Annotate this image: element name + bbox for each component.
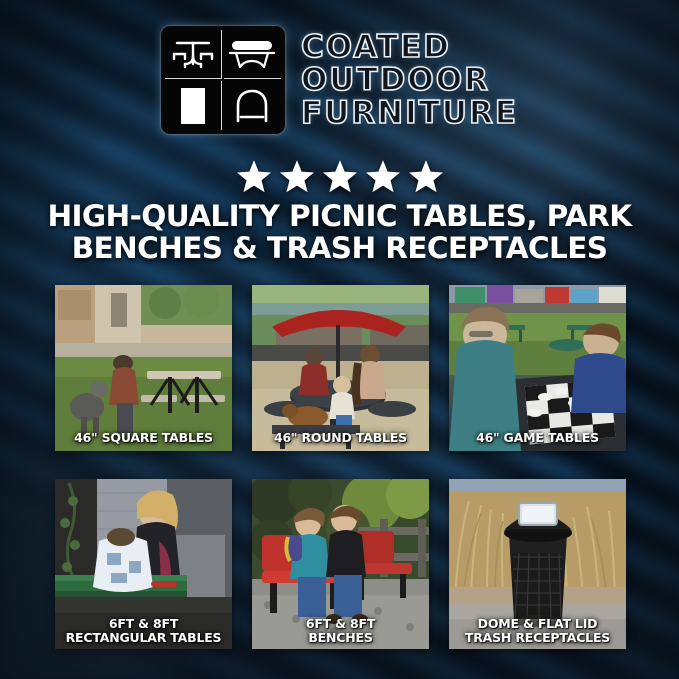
star-icon: [280, 160, 314, 193]
product-tile-round-tables[interactable]: 46" ROUND TABLES: [252, 285, 429, 451]
product-grid: 46" SQUARE TABLES: [55, 285, 627, 649]
product-photo: [449, 285, 626, 451]
product-caption: DOME & FLAT LID TRASH RECEPTACLES: [453, 617, 622, 645]
product-caption: 46" ROUND TABLES: [256, 431, 425, 445]
picnic-table-icon: [165, 30, 222, 79]
brand-wordmark: COATED OUTDOOR FURNITURE: [301, 32, 518, 129]
product-caption: 6FT & 8FT RECTANGULAR TABLES: [59, 617, 228, 645]
caption-line-1: 46" GAME TABLES: [476, 430, 599, 445]
bike-rack-arch-icon: [224, 81, 281, 130]
product-tile-square-tables[interactable]: 46" SQUARE TABLES: [55, 285, 232, 451]
rating-stars: [0, 160, 679, 193]
product-tile-trash-receptacles[interactable]: DOME & FLAT LID TRASH RECEPTACLES: [449, 479, 626, 649]
product-caption: 46" SQUARE TABLES: [59, 431, 228, 445]
caption-line-1: 46" ROUND TABLES: [274, 430, 407, 445]
star-icon: [366, 160, 400, 193]
wordmark-line-outdoor: OUTDOOR: [301, 65, 518, 96]
star-icon: [237, 160, 271, 193]
caption-line-2: BENCHES: [256, 631, 425, 645]
trash-receptacle-icon: [165, 81, 222, 130]
caption-line-2: TRASH RECEPTACLES: [453, 631, 622, 645]
caption-line-2: RECTANGULAR TABLES: [59, 631, 228, 645]
caption-line-1: 6FT & 8FT: [306, 616, 375, 631]
product-photo: [55, 285, 232, 451]
product-caption: 6FT & 8FT BENCHES: [256, 617, 425, 645]
caption-line-1: 6FT & 8FT: [109, 616, 178, 631]
star-icon: [323, 160, 357, 193]
product-photo: [252, 285, 429, 451]
bench-icon: [224, 30, 281, 79]
product-caption: 46" GAME TABLES: [453, 431, 622, 445]
headline-line-1: HIGH-QUALITY PICNIC TABLES, PARK: [47, 199, 631, 233]
marketing-banner: COATED OUTDOOR FURNITURE HIGH-QUALITY PI…: [0, 0, 679, 679]
product-tile-benches[interactable]: 6FT & 8FT BENCHES: [252, 479, 429, 649]
caption-line-1: DOME & FLAT LID: [478, 616, 598, 631]
headline-line-2: BENCHES & TRASH RECEPTACLES: [24, 232, 655, 264]
wordmark-line-furniture: FURNITURE: [301, 98, 518, 129]
wordmark-line-coated: COATED: [301, 32, 518, 63]
star-icon: [409, 160, 443, 193]
product-tile-game-tables[interactable]: 46" GAME TABLES: [449, 285, 626, 451]
product-tile-rectangular-tables[interactable]: 6FT & 8FT RECTANGULAR TABLES: [55, 479, 232, 649]
caption-line-1: 46" SQUARE TABLES: [74, 430, 213, 445]
logo-mark-icon: [161, 26, 285, 134]
page-headline: HIGH-QUALITY PICNIC TABLES, PARK BENCHES…: [24, 200, 655, 265]
brand-logo: COATED OUTDOOR FURNITURE: [0, 26, 679, 134]
